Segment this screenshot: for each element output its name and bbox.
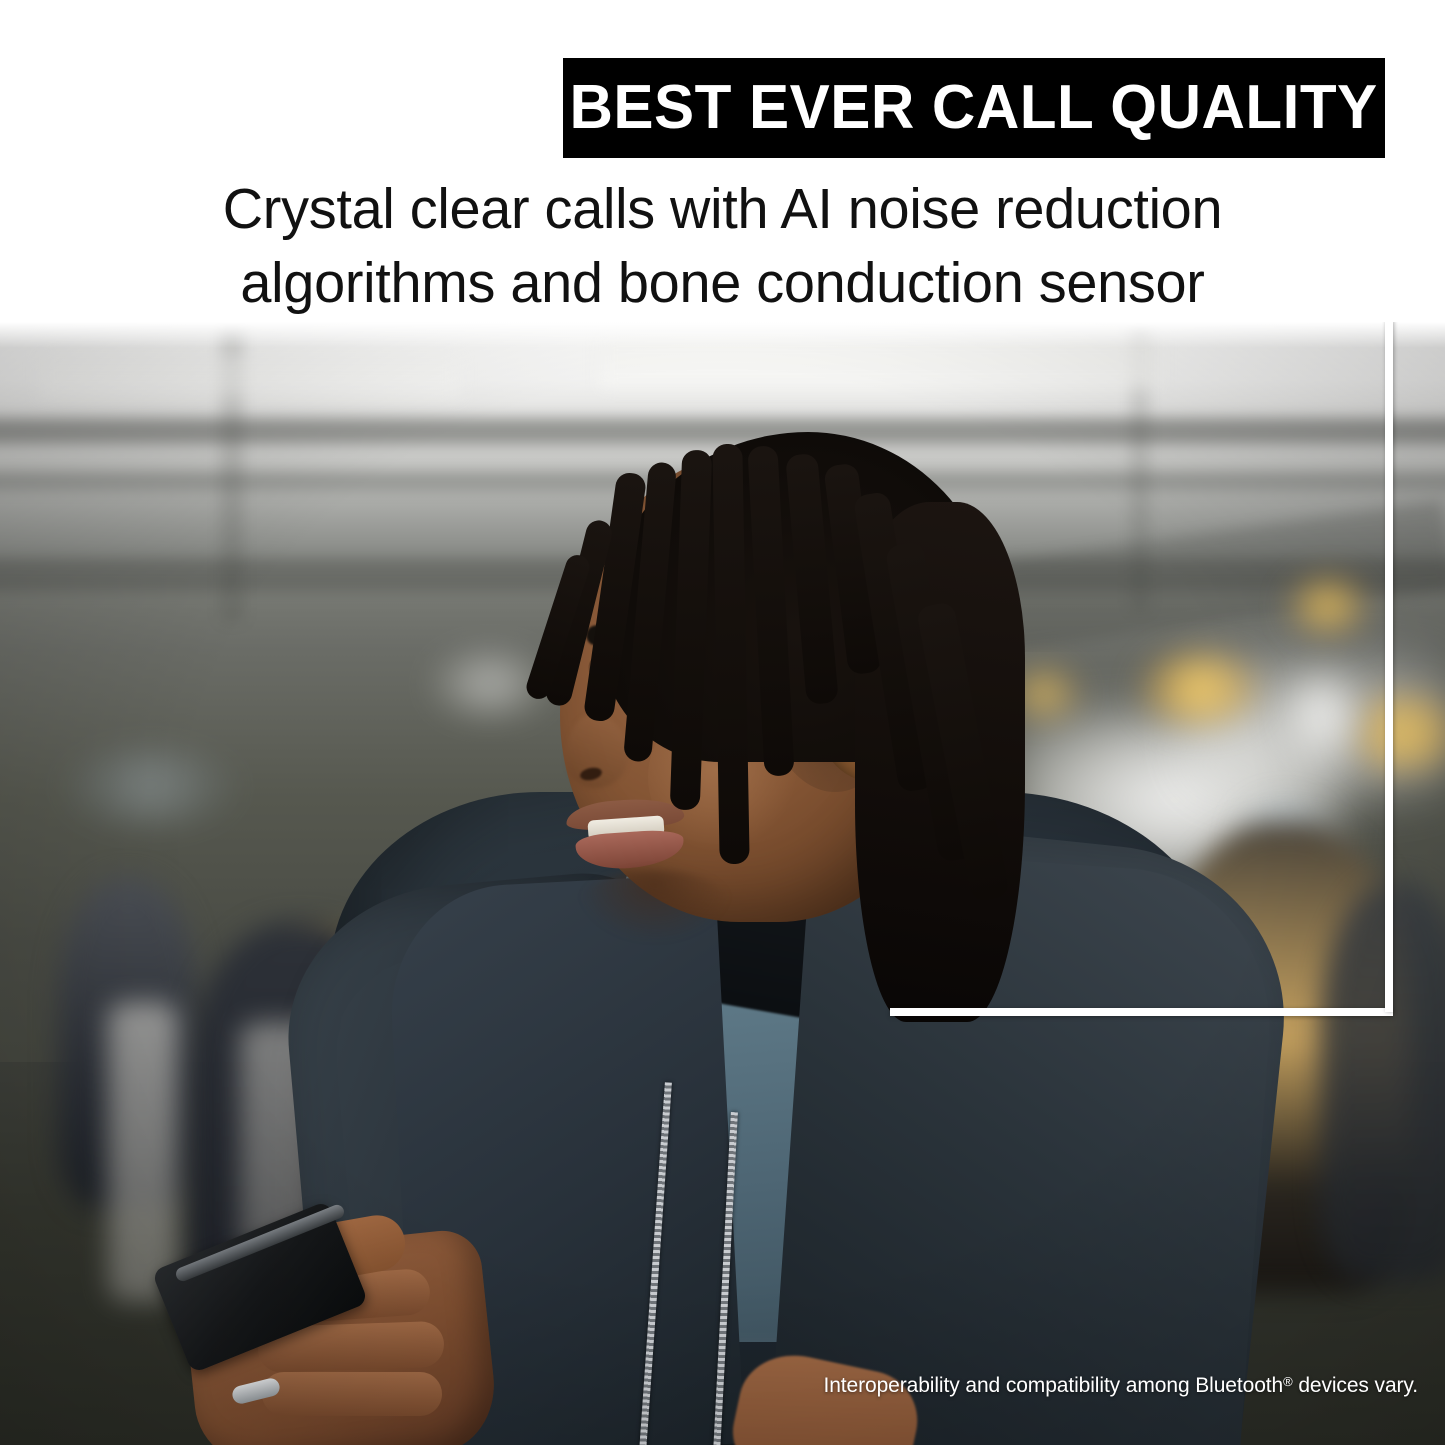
disclaimer-main: Interoperability and compatibility among… [823, 1374, 1283, 1397]
callout-line-horizontal [890, 1008, 1393, 1016]
disclaimer-text: Interoperability and compatibility among… [823, 1374, 1418, 1398]
subheadline: Crystal clear calls with AI noise reduct… [0, 172, 1445, 320]
headline-banner: BEST EVER CALL QUALITY [563, 58, 1385, 158]
callout-line-vertical [1385, 322, 1393, 1012]
subheadline-line-1: Crystal clear calls with AI noise reduct… [14, 172, 1430, 246]
product-feature-ad: BEST EVER CALL QUALITY Crystal clear cal… [0, 0, 1445, 1445]
registered-trademark-icon: ® [1283, 1374, 1292, 1389]
subheadline-line-2: algorithms and bone conduction sensor [14, 246, 1430, 320]
disclaimer-tail: devices vary. [1293, 1374, 1418, 1397]
header-area: BEST EVER CALL QUALITY Crystal clear cal… [0, 0, 1445, 322]
earbud-callout [0, 322, 1445, 1445]
lifestyle-photo [0, 322, 1445, 1445]
headline-text: BEST EVER CALL QUALITY [570, 77, 1378, 139]
